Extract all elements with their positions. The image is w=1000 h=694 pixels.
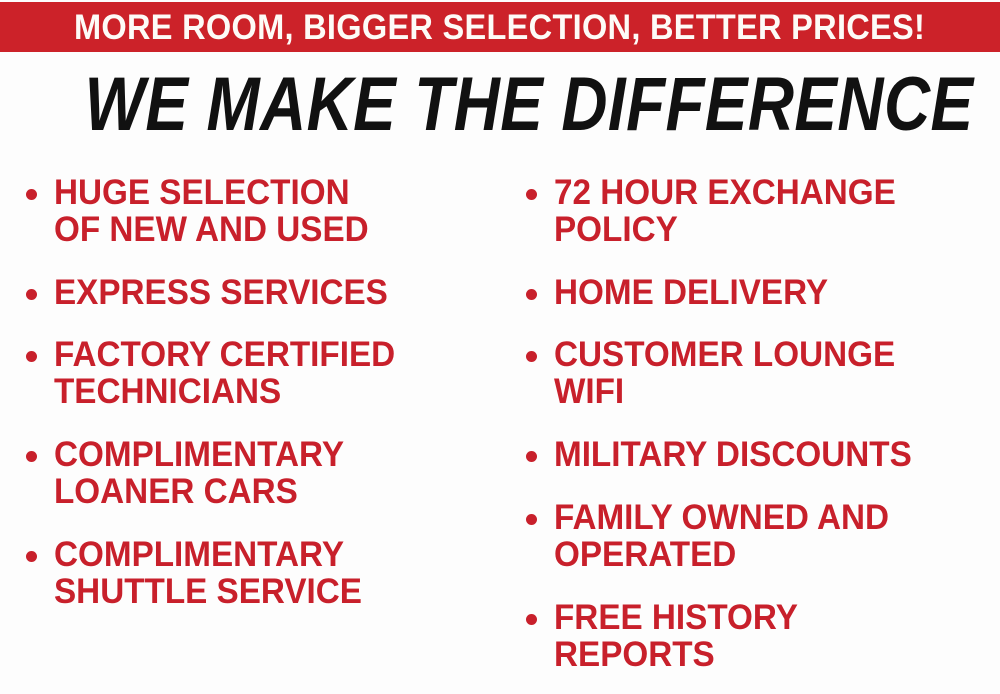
list-item-label: HOME DELIVERY [554,274,978,311]
list-item-label: FREE HISTORY REPORTS [554,599,978,673]
bullet-dot-icon [526,514,537,525]
page-title: WE MAKE THE DIFFERENCE [0,66,1000,144]
bullet-dot-icon [526,451,537,462]
list-item: COMPLIMENTARY LOANER CARS [14,436,500,510]
list-item-label: FACTORY CERTIFIED TECHNICIANS [54,336,478,410]
bullet-dot-icon [526,189,537,200]
list-item: COMPLIMENTARY SHUTTLE SERVICE [14,536,500,610]
page-title-text: WE MAKE THE DIFFERENCE [85,66,974,144]
features-column-left: HUGE SELECTION OF NEW AND USED EXPRESS S… [14,160,500,694]
list-item: 72 HOUR EXCHANGE POLICY [514,174,1000,248]
bullet-dot-icon [26,551,37,562]
list-item-label: 72 HOUR EXCHANGE POLICY [554,174,978,248]
list-item: HUGE SELECTION OF NEW AND USED [14,174,500,248]
bullet-dot-icon [26,351,37,362]
list-item: FREE HISTORY REPORTS [514,599,1000,673]
banner-headline-text: MORE ROOM, BIGGER SELECTION, BETTER PRIC… [74,10,925,45]
bullet-dot-icon [526,351,537,362]
top-banner: MORE ROOM, BIGGER SELECTION, BETTER PRIC… [0,2,1000,52]
list-item-label: MILITARY DISCOUNTS [554,436,978,473]
bullet-dot-icon [26,451,37,462]
list-item-label: FAMILY OWNED AND OPERATED [554,499,978,573]
features-columns: HUGE SELECTION OF NEW AND USED EXPRESS S… [0,160,1000,694]
list-item-label: COMPLIMENTARY LOANER CARS [54,436,478,510]
promo-poster: MORE ROOM, BIGGER SELECTION, BETTER PRIC… [0,0,1000,694]
list-item-label: COMPLIMENTARY SHUTTLE SERVICE [54,536,478,610]
list-item: FAMILY OWNED AND OPERATED [514,499,1000,573]
list-item-label: EXPRESS SERVICES [54,274,478,311]
bullet-dot-icon [26,289,37,300]
list-item: CUSTOMER LOUNGE WIFI [514,336,1000,410]
list-item: MILITARY DISCOUNTS [514,436,1000,473]
list-item: HOME DELIVERY [514,274,1000,311]
list-item: FACTORY CERTIFIED TECHNICIANS [14,336,500,410]
bullet-dot-icon [526,289,537,300]
bullet-dot-icon [26,189,37,200]
list-item-label: CUSTOMER LOUNGE WIFI [554,336,978,410]
bullet-dot-icon [526,614,537,625]
features-column-right: 72 HOUR EXCHANGE POLICY HOME DELIVERY CU… [514,160,1000,694]
list-item-label: HUGE SELECTION OF NEW AND USED [54,174,478,248]
list-item: EXPRESS SERVICES [14,274,500,311]
